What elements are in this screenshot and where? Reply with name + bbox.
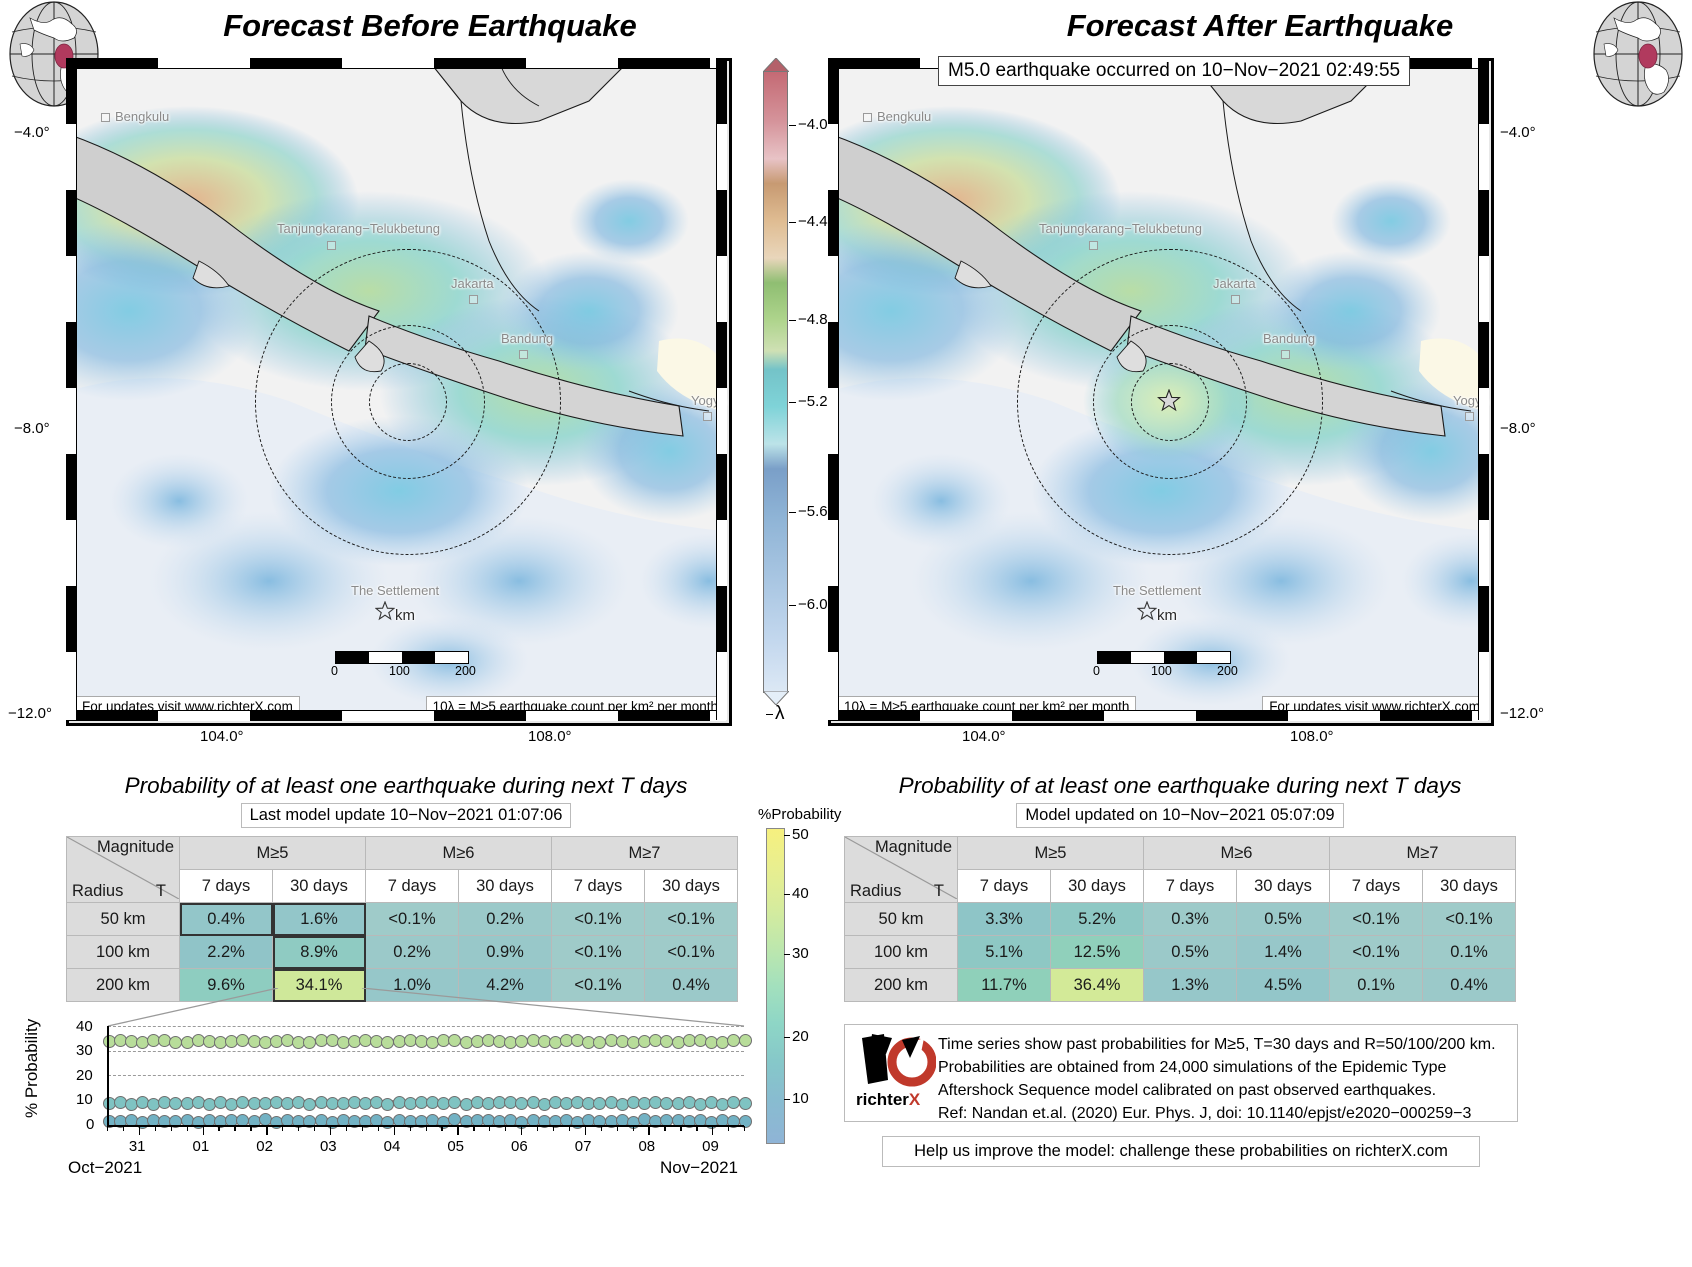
city-marker-tanjungkarang-after xyxy=(1089,241,1098,250)
x-axis-label: 09 xyxy=(702,1138,719,1155)
scale-label-0-after: 0 xyxy=(1093,664,1100,678)
timeseries-point xyxy=(739,1097,752,1110)
city-label-bandung: Bandung xyxy=(501,331,553,346)
lat-label-right-8: −8.0° xyxy=(1500,420,1536,437)
corner-t-label: T xyxy=(156,882,166,901)
x-axis-month-right: Nov−2021 xyxy=(660,1158,738,1178)
table-row: 200 km 11.7% 36.4% 1.3% 4.5% 0.1% 0.4% xyxy=(845,969,1516,1002)
scale-label-200-after: 200 xyxy=(1217,664,1238,678)
lat-label-right-4: −4.0° xyxy=(1500,124,1536,141)
header-m5: M≥5 xyxy=(180,837,366,870)
help-challenge-box[interactable]: Help us improve the model: challenge the… xyxy=(882,1136,1480,1167)
cell-100-m6-7[interactable]: 0.2% xyxy=(366,936,459,969)
x-axis-tick xyxy=(298,1126,299,1131)
header-m5-right: M≥5 xyxy=(958,837,1144,870)
row-header-100km: 100 km xyxy=(67,936,180,969)
cell-50-m6-7[interactable]: <0.1% xyxy=(366,903,459,936)
x-axis-tick xyxy=(633,1126,634,1131)
lat-label-left-8: −8.0° xyxy=(14,420,50,437)
city-marker-bengkulu-after xyxy=(863,113,872,122)
left-probability-table[interactable]: Magnitude Radius T M≥5 M≥6 M≥7 7 days 30… xyxy=(66,836,738,1002)
info-line-2: Probabilities are obtained from 24,000 s… xyxy=(938,1055,1446,1080)
cell-200-m7-7-right[interactable]: 0.1% xyxy=(1330,969,1423,1002)
x-axis-tick xyxy=(139,1126,140,1135)
table-header-magnitude-row: Magnitude Radius T M≥5 M≥6 M≥7 xyxy=(845,837,1516,870)
x-axis-label: 31 xyxy=(129,1138,146,1155)
row-header-100km-right: 100 km xyxy=(845,936,958,969)
epicenter-star-icon xyxy=(1157,389,1181,413)
richterx-logo-text: richterX xyxy=(856,1090,920,1110)
lon-label-left-108: 108.0° xyxy=(528,728,572,745)
pct-tick-40: 40 xyxy=(792,885,809,902)
y-tick-10: 10 xyxy=(76,1091,93,1108)
cell-100-m6-30-right[interactable]: 1.4% xyxy=(1237,936,1330,969)
lambda-colorbar xyxy=(763,71,788,693)
x-axis-tick xyxy=(505,1126,506,1131)
globe-inset-right xyxy=(1584,0,1692,108)
x-axis-label: 03 xyxy=(320,1138,337,1155)
x-axis-tick xyxy=(171,1126,172,1131)
x-axis-tick xyxy=(473,1126,474,1131)
right-map-title: Forecast After Earthquake xyxy=(960,8,1560,44)
lambda-tick-6-0: −6.0 xyxy=(798,596,828,613)
y-tick-40: 40 xyxy=(76,1018,93,1035)
cell-50-m7-7-right[interactable]: <0.1% xyxy=(1330,903,1423,936)
forecast-map-before[interactable]: Bengkulu Tanjungkarang−Telukbetung Jakar… xyxy=(66,58,732,726)
cell-200-m6-7-right[interactable]: 1.3% xyxy=(1144,969,1237,1002)
cell-200-m5-30-right[interactable]: 36.4% xyxy=(1051,969,1144,1002)
pct-tick-30: 30 xyxy=(792,945,809,962)
map-border-ticks-right-left xyxy=(716,58,727,720)
lat-label-left-12: −12.0° xyxy=(8,705,52,722)
colorbar-top-arrow xyxy=(763,58,789,72)
cell-50-m5-30[interactable]: 1.6% xyxy=(273,903,366,936)
y-tick-0: 0 xyxy=(86,1116,94,1133)
city-marker-bandung xyxy=(519,350,528,359)
x-axis-tick xyxy=(457,1126,458,1135)
city-label-jakarta-after: Jakarta xyxy=(1213,276,1256,291)
settlement-star-icon-after xyxy=(1137,601,1157,621)
x-axis-tick xyxy=(696,1126,697,1131)
x-axis-tick xyxy=(250,1126,251,1131)
city-label-settlement-after: The Settlement xyxy=(1113,583,1201,598)
header-m6: M≥6 xyxy=(366,837,552,870)
logo-text-x: X xyxy=(909,1090,920,1109)
x-axis-tick xyxy=(441,1126,442,1131)
cell-100-m7-30[interactable]: <0.1% xyxy=(645,936,738,969)
header-m7-7days-right: 7 days xyxy=(1330,870,1423,903)
corner-t-label-right: T xyxy=(934,882,944,901)
x-axis-label: 07 xyxy=(575,1138,592,1155)
x-axis-label: 01 xyxy=(193,1138,210,1155)
logo-text-richter: richter xyxy=(856,1090,909,1109)
city-marker-yogya xyxy=(703,412,712,421)
corner-magnitude-label: Magnitude xyxy=(97,838,174,857)
radius-ring-200km xyxy=(255,249,561,555)
lambda-symbol: λ xyxy=(775,703,785,725)
row-header-50km: 50 km xyxy=(67,903,180,936)
x-axis-tick xyxy=(155,1126,156,1131)
lambda-tick-4-4: −4.4 xyxy=(798,213,828,230)
forecast-map-after[interactable]: Bengkulu Tanjungkarang−Telukbetung Jakar… xyxy=(828,58,1494,726)
header-m5-7days-right: 7 days xyxy=(958,870,1051,903)
cell-50-m5-30-right[interactable]: 5.2% xyxy=(1051,903,1144,936)
scale-label-0: 0 xyxy=(331,664,338,678)
header-m5-30days-right: 30 days xyxy=(1051,870,1144,903)
right-model-update-badge: Model updated on 10−Nov−2021 05:07:09 xyxy=(1016,803,1343,828)
timeseries-dots-layer xyxy=(108,1026,744,1124)
left-map-title: Forecast Before Earthquake xyxy=(130,8,730,44)
settlement-km-label: km xyxy=(395,607,415,624)
x-axis-tick xyxy=(123,1126,124,1131)
map-border-ticks-left-left xyxy=(66,58,77,720)
x-axis-tick xyxy=(601,1126,602,1131)
x-axis-tick xyxy=(107,1126,108,1131)
x-axis-tick xyxy=(282,1126,283,1131)
timeseries-y-axis-label: % Probability xyxy=(22,1019,42,1118)
x-axis-label: 08 xyxy=(638,1138,655,1155)
settlement-star-icon xyxy=(375,601,395,621)
city-label-jakarta: Jakarta xyxy=(451,276,494,291)
scale-label-100: 100 xyxy=(389,664,410,678)
x-axis-tick xyxy=(362,1126,363,1131)
left-model-update-badge: Last model update 10−Nov−2021 01:07:06 xyxy=(241,803,572,828)
right-table-title: Probability of at least one earthquake d… xyxy=(830,773,1530,799)
header-m7-7days: 7 days xyxy=(552,870,645,903)
info-line-1: Time series show past probabilities for … xyxy=(938,1032,1496,1057)
timeseries-y-axis xyxy=(107,1026,109,1126)
pct-colorbar-title: %Probability xyxy=(758,806,841,823)
map-border-ticks-left-right xyxy=(828,58,839,720)
cell-200-m5-7-right[interactable]: 11.7% xyxy=(958,969,1051,1002)
x-axis-label: 02 xyxy=(256,1138,273,1155)
table-row: 50 km 0.4% 1.6% <0.1% 0.2% <0.1% <0.1% xyxy=(67,903,738,936)
x-axis-tick xyxy=(218,1126,219,1131)
row-header-200km-right: 200 km xyxy=(845,969,958,1002)
cell-100-m5-30[interactable]: 8.9% xyxy=(273,936,366,969)
cell-200-m7-30-right[interactable]: 0.4% xyxy=(1423,969,1516,1002)
pct-tick-50: 50 xyxy=(792,826,809,843)
earthquake-banner: M5.0 earthquake occurred on 10−Nov−2021 … xyxy=(938,56,1410,86)
city-marker-yogya-after xyxy=(1465,412,1474,421)
pct-colorbar xyxy=(766,828,785,1144)
x-axis-tick xyxy=(378,1126,379,1131)
corner-radius-label-right: Radius xyxy=(850,882,901,901)
city-marker-bandung-after xyxy=(1281,350,1290,359)
map-border-ticks-right-right xyxy=(1478,58,1489,720)
x-axis-month-left: Oct−2021 xyxy=(68,1158,142,1178)
settlement-km-label-after: km xyxy=(1157,607,1177,624)
city-marker-jakarta-after xyxy=(1231,295,1240,304)
pct-tick-10: 10 xyxy=(792,1090,809,1107)
cell-100-m5-30-right[interactable]: 12.5% xyxy=(1051,936,1144,969)
lon-label-right-108: 108.0° xyxy=(1290,728,1334,745)
x-axis-tick xyxy=(617,1126,618,1131)
corner-radius-label: Radius xyxy=(72,882,123,901)
x-axis-tick xyxy=(664,1126,665,1131)
timeseries-point xyxy=(739,1034,752,1047)
cell-200-m6-30-right[interactable]: 4.5% xyxy=(1237,969,1330,1002)
x-axis-tick xyxy=(585,1126,586,1135)
lat-label-left-4: −4.0° xyxy=(14,124,50,141)
x-axis-tick xyxy=(680,1126,681,1131)
table-row: 50 km 3.3% 5.2% 0.3% 0.5% <0.1% <0.1% xyxy=(845,903,1516,936)
cell-100-m5-7[interactable]: 2.2% xyxy=(180,936,273,969)
x-axis-tick xyxy=(234,1126,235,1131)
x-axis-tick xyxy=(489,1126,490,1131)
cell-100-m6-30[interactable]: 0.9% xyxy=(459,936,552,969)
x-axis-tick xyxy=(426,1126,427,1131)
table-corner-cell-right: Magnitude Radius T xyxy=(845,837,958,903)
cell-100-m5-7-right[interactable]: 5.1% xyxy=(958,936,1051,969)
header-m6-7days-right: 7 days xyxy=(1144,870,1237,903)
cell-100-m7-7-right[interactable]: <0.1% xyxy=(1330,936,1423,969)
y-tick-20: 20 xyxy=(76,1067,93,1084)
lambda-tick-5-6: −5.6 xyxy=(798,503,828,520)
cell-50-m7-30-right[interactable]: <0.1% xyxy=(1423,903,1516,936)
lambda-tick-4-8: −4.8 xyxy=(798,311,828,328)
x-axis-tick xyxy=(521,1126,522,1135)
x-axis-tick xyxy=(346,1126,347,1131)
x-axis-tick xyxy=(266,1126,267,1135)
timeseries-chart[interactable] xyxy=(108,1026,744,1124)
x-axis-tick xyxy=(314,1126,315,1131)
corner-magnitude-label-right: Magnitude xyxy=(875,838,952,857)
x-axis-tick xyxy=(187,1126,188,1131)
cell-50-m7-7[interactable]: <0.1% xyxy=(552,903,645,936)
x-axis-tick xyxy=(410,1126,411,1131)
cell-100-m6-7-right[interactable]: 0.5% xyxy=(1144,936,1237,969)
lambda-tick-5-2: −5.2 xyxy=(798,393,828,410)
right-probability-table[interactable]: Magnitude Radius T M≥5 M≥6 M≥7 7 days 30… xyxy=(844,836,1516,1002)
city-label-settlement: The Settlement xyxy=(351,583,439,598)
x-axis-tick xyxy=(648,1126,649,1135)
table-to-chart-connector xyxy=(60,988,750,1028)
city-label-tanjungkarang: Tanjungkarang−Telukbetung xyxy=(277,221,440,236)
header-m7-30days-right: 30 days xyxy=(1423,870,1516,903)
x-axis-tick xyxy=(744,1126,745,1131)
info-line-3: Aftershock Sequence model calibrated on … xyxy=(938,1078,1436,1103)
x-axis-tick xyxy=(569,1126,570,1131)
x-axis-tick xyxy=(712,1126,713,1135)
scale-label-200: 200 xyxy=(455,664,476,678)
header-m7: M≥7 xyxy=(552,837,738,870)
cell-50-m6-30[interactable]: 0.2% xyxy=(459,903,552,936)
cell-50-m6-30-right[interactable]: 0.5% xyxy=(1237,903,1330,936)
x-axis-tick xyxy=(728,1126,729,1131)
lat-label-right-12: −12.0° xyxy=(1500,705,1544,722)
richterx-logo-icon xyxy=(858,1032,936,1090)
city-marker-bengkulu xyxy=(101,113,110,122)
map-border-ticks-bottom-left xyxy=(66,710,726,721)
table-corner-cell: Magnitude Radius T xyxy=(67,837,180,903)
lambda-tick-4-0: −4.0 xyxy=(798,116,828,133)
x-axis-label: 05 xyxy=(447,1138,464,1155)
cell-50-m7-30[interactable]: <0.1% xyxy=(645,903,738,936)
city-marker-tanjungkarang xyxy=(327,241,336,250)
scale-label-100-after: 100 xyxy=(1151,664,1172,678)
city-label-bandung-after: Bandung xyxy=(1263,331,1315,346)
header-m6-right: M≥6 xyxy=(1144,837,1330,870)
cell-50-m5-7[interactable]: 0.4% xyxy=(180,903,273,936)
scale-bar-after xyxy=(1097,651,1231,664)
lon-label-right-104: 104.0° xyxy=(962,728,1006,745)
map-border-ticks-top-left xyxy=(66,58,726,69)
city-label-bengkulu-after: Bengkulu xyxy=(877,109,931,124)
table-row: 100 km 5.1% 12.5% 0.5% 1.4% <0.1% 0.1% xyxy=(845,936,1516,969)
city-label-bengkulu: Bengkulu xyxy=(115,109,169,124)
header-m5-7days: 7 days xyxy=(180,870,273,903)
map-border-ticks-bottom-right xyxy=(828,710,1488,721)
city-marker-jakarta xyxy=(469,295,478,304)
y-tick-30: 30 xyxy=(76,1042,93,1059)
left-table-title: Probability of at least one earthquake d… xyxy=(56,773,756,799)
x-axis-tick xyxy=(203,1126,204,1135)
row-header-50km-right: 50 km xyxy=(845,903,958,936)
lon-label-left-104: 104.0° xyxy=(200,728,244,745)
pct-tick-20: 20 xyxy=(792,1028,809,1045)
header-m7-right: M≥7 xyxy=(1330,837,1516,870)
x-axis-tick xyxy=(537,1126,538,1131)
table-header-magnitude-row: Magnitude Radius T M≥5 M≥6 M≥7 xyxy=(67,837,738,870)
table-row: 100 km 2.2% 8.9% 0.2% 0.9% <0.1% <0.1% xyxy=(67,936,738,969)
header-m6-30days: 30 days xyxy=(459,870,552,903)
cell-50-m5-7-right[interactable]: 3.3% xyxy=(958,903,1051,936)
cell-100-m7-30-right[interactable]: 0.1% xyxy=(1423,936,1516,969)
info-line-4: Ref: Nandan et.al. (2020) Eur. Phys. J, … xyxy=(938,1101,1471,1126)
x-axis-label: 04 xyxy=(384,1138,401,1155)
header-m5-30days: 30 days xyxy=(273,870,366,903)
city-label-tanjungkarang-after: Tanjungkarang−Telukbetung xyxy=(1039,221,1202,236)
x-axis-tick xyxy=(394,1126,395,1135)
cell-50-m6-7-right[interactable]: 0.3% xyxy=(1144,903,1237,936)
x-axis-tick xyxy=(553,1126,554,1131)
x-axis-tick xyxy=(330,1126,331,1135)
scale-bar xyxy=(335,651,469,664)
cell-100-m7-7[interactable]: <0.1% xyxy=(552,936,645,969)
header-m6-30days-right: 30 days xyxy=(1237,870,1330,903)
header-m6-7days: 7 days xyxy=(366,870,459,903)
x-axis-label: 06 xyxy=(511,1138,528,1155)
header-m7-30days: 30 days xyxy=(645,870,738,903)
